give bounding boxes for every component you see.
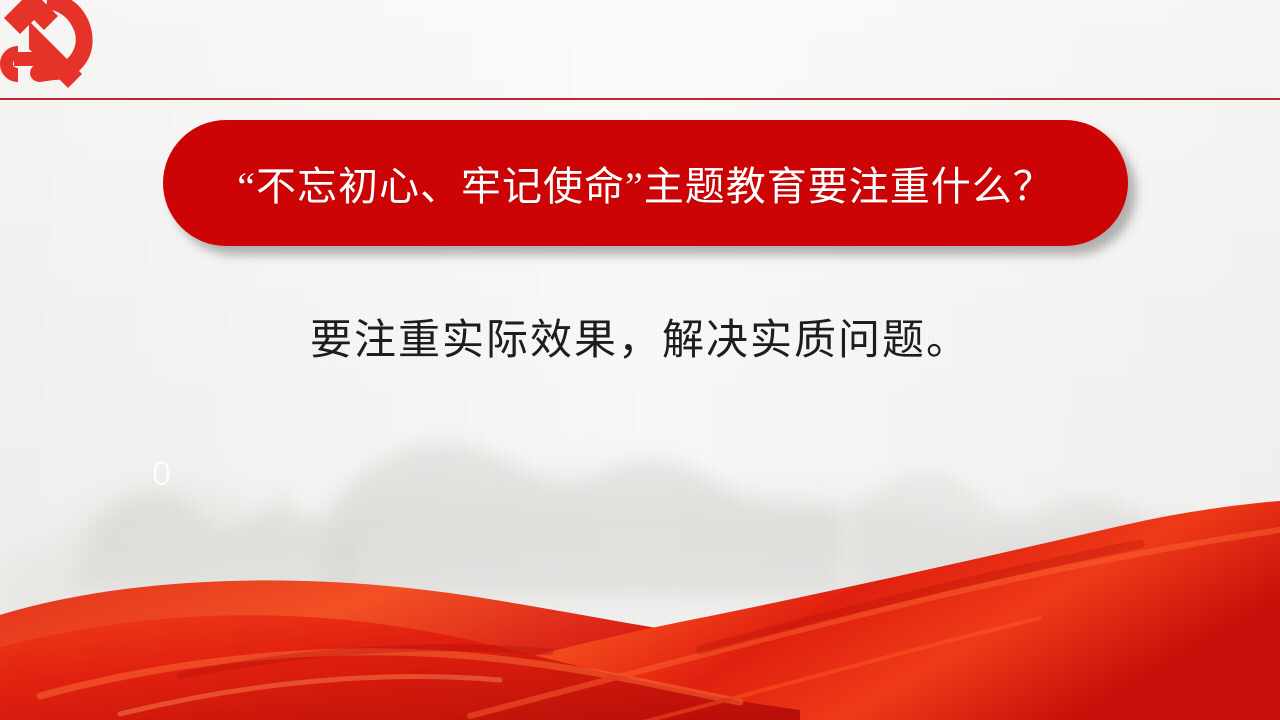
ghost-numeral-artifact: 0	[152, 455, 171, 494]
hammer-and-sickle-icon	[0, 0, 100, 90]
header-divider-rule	[0, 98, 1280, 100]
body-text: 要注重实际效果，解决实质问题。	[0, 306, 1280, 367]
slide-canvas: “不忘初心、牢记使命”主题教育要注重什么？ 要注重实际效果，解决实质问题。 0	[0, 0, 1280, 720]
ink-wash-landscape-background	[0, 390, 1280, 680]
title-banner: “不忘初心、牢记使命”主题教育要注重什么？	[163, 120, 1128, 246]
red-silk-ribbon-decoration	[0, 500, 1280, 720]
page-title: “不忘初心、牢记使命”主题教育要注重什么？	[237, 154, 1054, 212]
